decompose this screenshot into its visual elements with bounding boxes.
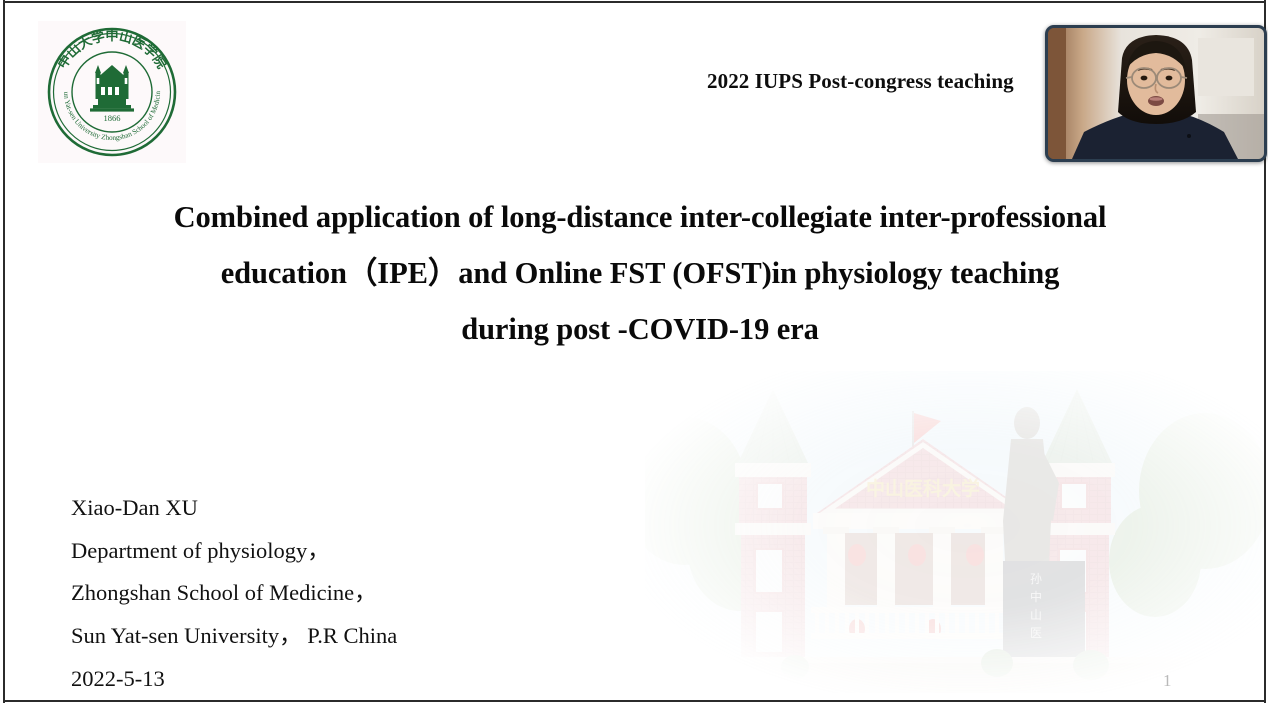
slide-header-title: 2022 IUPS Post-congress teaching [707,69,1014,94]
slide-page-number: 1 [1163,671,1172,691]
seal-year: 1866 [104,113,121,123]
university-seal-logo: 1866 中山大学中山医学院 Sun Yat-sen University Zh… [38,21,186,163]
title-line-1: Combined application of long-distance in… [95,189,1185,245]
author-department: Department of physiology， [71,530,397,573]
svg-text:医: 医 [1030,626,1042,640]
svg-text:山: 山 [1030,608,1042,622]
presenter-webcam-image [1048,28,1264,159]
author-university: Sun Yat-sen University， P.R China [71,615,397,658]
presentation-slide: 1866 中山大学中山医学院 Sun Yat-sen University Zh… [0,0,1268,714]
slide-main-title: Combined application of long-distance in… [95,189,1185,357]
presentation-date: 2022-5-13 [71,658,397,700]
title-line-2: education（IPE）and Online FST (OFST)in ph… [95,245,1185,301]
svg-text:孙: 孙 [1030,572,1042,586]
title-line-3: during post -COVID-19 era [95,301,1185,357]
author-school: Zhongshan School of Medicine， [71,572,397,615]
presenter-video-panel[interactable] [1045,25,1267,162]
author-name: Xiao-Dan XU [71,487,397,530]
slide-border-bottom [3,700,1265,702]
author-affiliation-block: Xiao-Dan XU Department of physiology， Zh… [71,487,397,700]
svg-text:中: 中 [1030,589,1042,604]
campus-building-photo: 中山医科大学 [645,371,1264,693]
building-sign-text: 中山医科大学 [866,477,980,500]
